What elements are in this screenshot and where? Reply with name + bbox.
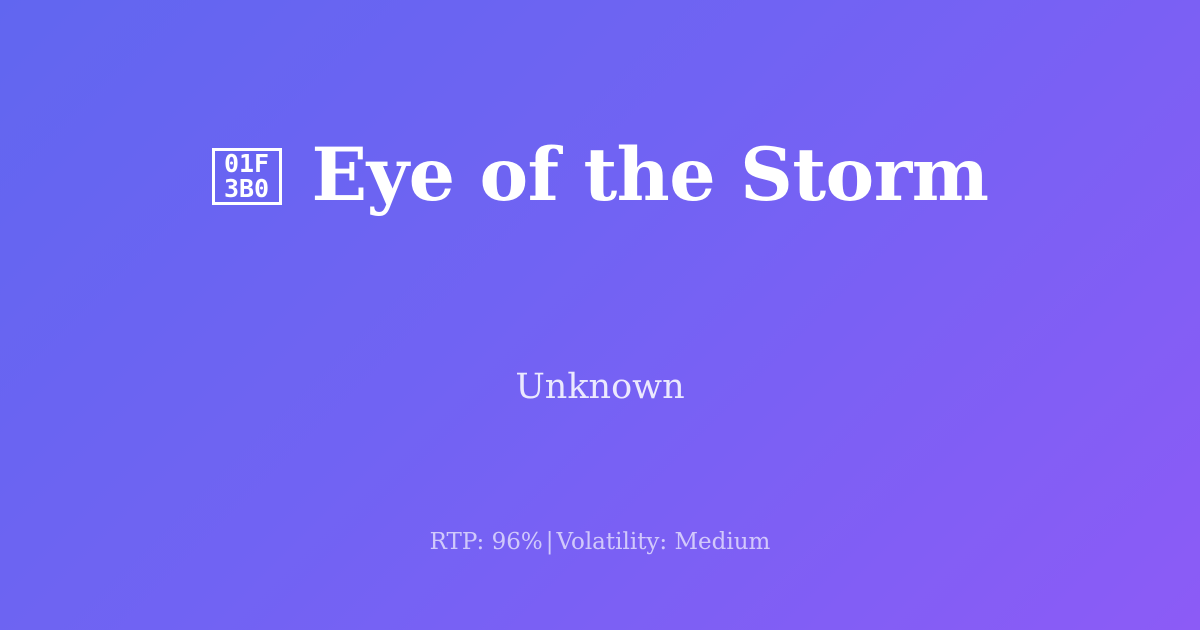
provider-subtitle: Unknown <box>0 365 1200 409</box>
game-stats-line: RTP: 96%|Volatility: Medium <box>0 528 1200 557</box>
page-title: Eye of the Storm <box>312 139 989 212</box>
rtp-value: RTP: 96% <box>430 529 543 555</box>
volatility-value: Volatility: Medium <box>556 529 770 555</box>
slot-machine-emoji-icon: 01F 3B0 <box>212 148 282 205</box>
codepoint-lower: 3B0 <box>224 176 269 201</box>
game-share-card: 01F 3B0 Eye of the Storm Unknown RTP: 96… <box>0 0 1200 630</box>
stats-separator: | <box>543 529 557 555</box>
title-row: 01F 3B0 Eye of the Storm <box>0 0 1200 350</box>
codepoint-upper: 01F <box>224 151 269 176</box>
